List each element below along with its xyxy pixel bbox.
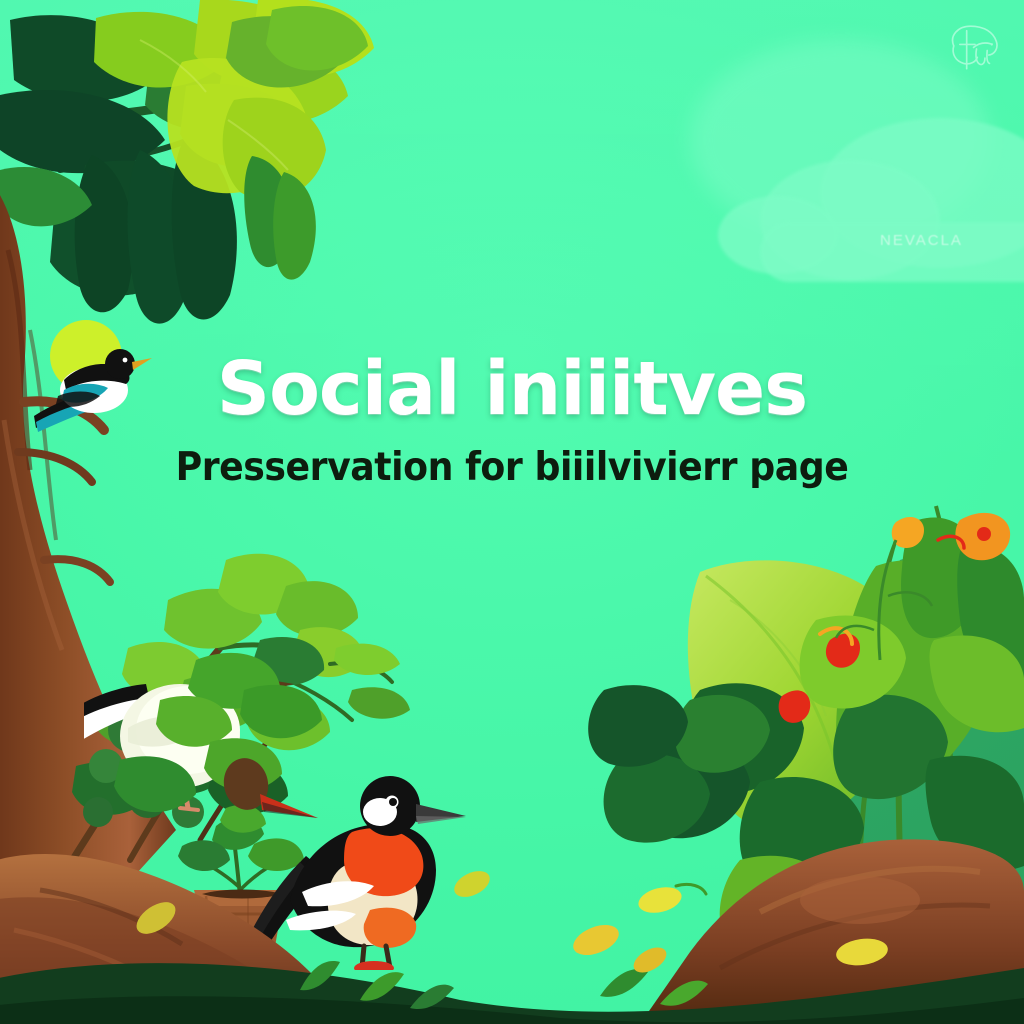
poster-canvas: NEVACLA [0, 0, 1024, 1024]
falling-yellow-leaves [0, 0, 1024, 1024]
